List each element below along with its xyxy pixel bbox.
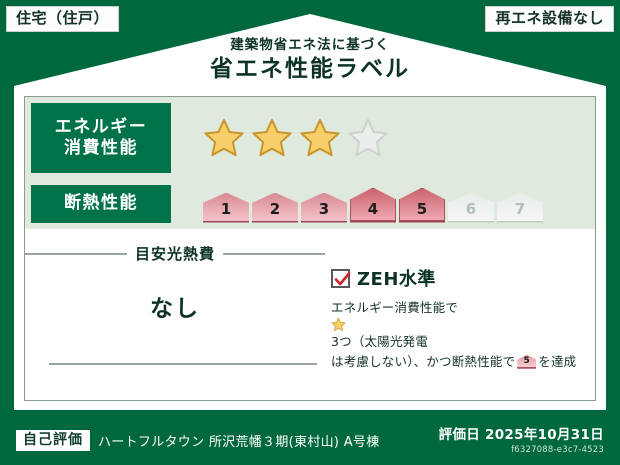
title-main: 省エネ性能ラベル	[0, 57, 620, 82]
zeh-desc-part2: 3つ（太陽光発電	[331, 334, 428, 349]
insulation-level-badge-icon: 5	[517, 355, 536, 369]
insulation-performance-row: 断熱性能 1234567	[25, 179, 595, 229]
utility-cost-value: なし	[25, 289, 325, 323]
self-evaluation-badge: 自己評価	[16, 430, 90, 451]
label-footer: 自己評価 ハートフルタウン 所沢荒幡３期(東村山) A号棟 評価日 2025年1…	[0, 410, 620, 465]
insulation-level-badge-number: 5	[517, 355, 536, 369]
insulation-level-2: 2	[252, 193, 298, 221]
energy-performance-row: エネルギー 消費性能	[25, 97, 595, 179]
zeh-desc-part3: は考慮しない）、かつ断熱性能で	[331, 354, 515, 369]
title-subtitle: 建築物省エネ法に基づく	[0, 38, 620, 53]
energy-label-line1: エネルギー	[55, 117, 148, 138]
zeh-desc-part1: エネルギー消費性能で	[331, 300, 458, 315]
insulation-level-5: 5	[399, 188, 445, 221]
rule-left	[25, 253, 127, 255]
badge-renewable-energy: 再エネ設備なし	[485, 6, 614, 32]
insulation-performance-label: 断熱性能	[31, 185, 171, 223]
utility-cost-bottom-rule	[49, 363, 317, 365]
zeh-title: ZEH水準	[357, 265, 436, 291]
rule-right	[223, 253, 325, 255]
evaluation-id: f6327088-e3c7-4523	[439, 445, 604, 455]
zeh-desc-part4: を達成	[538, 354, 576, 369]
project-name: ハートフルタウン 所沢荒幡３期(東村山) A号棟	[98, 431, 380, 450]
insulation-level-3: 3	[301, 193, 347, 221]
star-rating	[203, 117, 389, 159]
insulation-level-scale: 1234567	[203, 188, 543, 221]
insulation-rating-value: 1234567	[171, 179, 595, 229]
star-icon-filled	[299, 117, 341, 159]
zeh-header: ZEH水準	[331, 265, 581, 291]
badge-building-type: 住宅（住戸）	[6, 6, 119, 32]
footer-left: 自己評価 ハートフルタウン 所沢荒幡３期(東村山) A号棟	[16, 430, 380, 451]
check-icon	[331, 269, 350, 288]
evaluation-date: 評価日 2025年10月31日	[439, 423, 604, 443]
insulation-level-4: 4	[350, 188, 396, 221]
insulation-level-1: 1	[203, 193, 249, 221]
lower-section: 目安光熱費 なし ZEH水準 エネルギー消費性能で3つ（太陽光発電 は考慮しない…	[25, 229, 595, 399]
star-icon-inline	[331, 317, 346, 332]
star-icon-filled	[251, 117, 293, 159]
energy-performance-label: 住宅（住戸） 再エネ設備なし 建築物省エネ法に基づく 省エネ性能ラベル エネルギ…	[0, 0, 620, 465]
performance-card: エネルギー 消費性能 断熱性能 1234567 目安光熱費 なし	[24, 96, 596, 401]
utility-cost-title: 目安光熱費	[127, 243, 223, 264]
energy-rating-value	[171, 97, 595, 179]
zeh-section: ZEH水準 エネルギー消費性能で3つ（太陽光発電 は考慮しない）、かつ断熱性能で…	[331, 265, 581, 371]
label-title: 建築物省エネ法に基づく 省エネ性能ラベル	[0, 38, 620, 82]
star-icon-empty	[347, 117, 389, 159]
zeh-description: エネルギー消費性能で3つ（太陽光発電 は考慮しない）、かつ断熱性能で 5 を達成	[331, 298, 581, 371]
energy-label-line2: 消費性能	[55, 138, 148, 159]
insulation-level-7: 7	[497, 193, 543, 221]
utility-cost-header: 目安光熱費	[25, 243, 325, 264]
star-icon-filled	[203, 117, 245, 159]
footer-right: 評価日 2025年10月31日 f6327088-e3c7-4523	[439, 423, 604, 455]
energy-performance-label: エネルギー 消費性能	[31, 103, 171, 173]
insulation-level-6: 6	[448, 193, 494, 221]
